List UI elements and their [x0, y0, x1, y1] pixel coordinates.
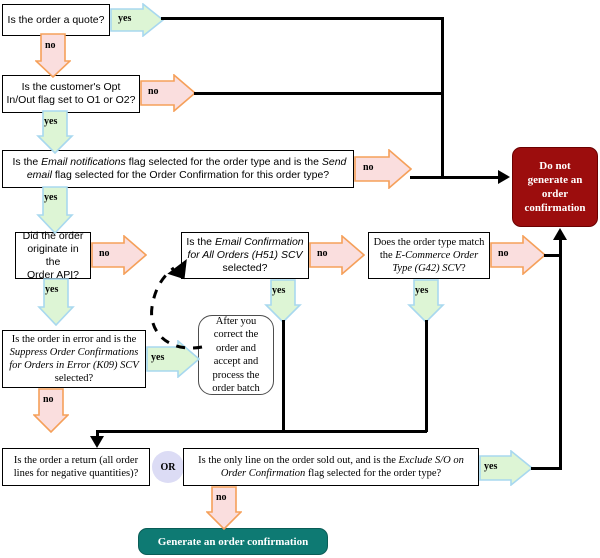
node-opt-in-out-line1: Is the customer's Opt — [22, 81, 121, 93]
node-order-api-line2: originate in the — [27, 243, 78, 268]
node-opt-in-out-line2: In/Out flag set to O1 or O2? — [7, 94, 136, 106]
terminal-stop-line3: order — [542, 188, 568, 200]
arrow-optinout-no-label: no — [148, 86, 159, 97]
node-k09-em1: Suppress Order Confirmations for Orders … — [9, 347, 139, 371]
arrow-soldout-no-label: no — [216, 492, 227, 503]
node-sold-out-exclude[interactable]: Is the only line on the order sold out, … — [183, 448, 479, 486]
or-badge: OR — [152, 451, 184, 483]
connector-stop-arrowhead — [498, 170, 510, 184]
connector-right-trunk-arrowhead — [553, 228, 567, 240]
node-email-notif-seg1: Is the — [13, 156, 42, 168]
node-order-api-origin[interactable]: Did the order originate in the Order API… — [15, 232, 91, 279]
node-order-return-line1: Is the order a return (all order — [14, 455, 138, 466]
arrow-g42-yes-label: yes — [415, 285, 428, 296]
node-order-is-return[interactable]: Is the order a return (all order lines f… — [2, 448, 150, 486]
arrow-h51-yes: yes — [264, 279, 302, 323]
connector-dashed-loopback — [140, 255, 250, 370]
connector-g42-yes-vertical — [425, 320, 428, 432]
node-email-notif-seg2: flag selected for the order type and is … — [126, 156, 322, 168]
node-soldout-seg1: Is the only line on the order sold out, … — [198, 455, 398, 466]
terminal-stop-line2: generate an — [528, 174, 583, 186]
arrow-emailnotif-yes-label: yes — [44, 192, 57, 203]
connector-quote-yes-vertical — [441, 17, 444, 177]
arrow-h51-no: no — [309, 235, 365, 275]
node-email-notif-em1: Email notifications — [41, 156, 126, 168]
arrow-emailnotif-yes: yes — [36, 186, 74, 234]
arrow-orderapi-yes-label: yes — [45, 284, 58, 295]
or-badge-label: OR — [161, 462, 176, 473]
terminal-stop-line4: confirmation — [524, 202, 585, 214]
arrow-orderapi-yes: yes — [37, 278, 75, 326]
arrow-quote-yes-label: yes — [118, 13, 131, 24]
arrow-g42-yes: yes — [407, 279, 445, 323]
node-k09-seg2: selected? — [55, 373, 93, 384]
arrow-g42-no-label: no — [498, 248, 509, 259]
connector-optinout-no-horizontal — [194, 92, 444, 95]
arrow-soldout-no: no — [206, 486, 242, 530]
arrow-quote-no-label: no — [45, 40, 56, 51]
node-k09-seg1: Is the order in error and is the — [12, 334, 137, 345]
arrow-optinout-no: no — [140, 74, 196, 112]
arrow-optinout-yes-label: yes — [44, 116, 57, 127]
arrow-soldout-yes: yes — [479, 450, 533, 486]
arrow-soldout-yes-label: yes — [484, 461, 497, 472]
arrow-g42-no: no — [490, 235, 546, 275]
arrow-k09-no: no — [33, 388, 69, 433]
connector-soldout-yes-horizontal — [531, 467, 562, 470]
terminal-go-label: Generate an order confirmation — [158, 535, 308, 549]
node-email-notif-seg3: flag selected for the Order Confirmation… — [52, 169, 329, 181]
arrow-optinout-yes: yes — [36, 110, 74, 154]
node-email-notifications-flag[interactable]: Is the Email notifications flag selected… — [2, 150, 354, 188]
arrow-emailnotif-no-label: no — [363, 162, 374, 173]
connector-emailnotif-no-horizontal — [410, 176, 500, 179]
connector-h51-yes-vertical — [282, 320, 285, 432]
node-h51-seg1: Is the — [186, 236, 215, 248]
arrow-h51-no-label: no — [317, 248, 328, 259]
arrow-h51-yes-label: yes — [272, 285, 285, 296]
node-order-return-line2: lines for negative quantities)? — [14, 468, 139, 479]
node-g42-seg2: ? — [461, 263, 466, 274]
node-is-order-quote[interactable]: Is the order a quote? — [2, 4, 110, 36]
node-g42-scv[interactable]: Does the order type match the E-Commerce… — [368, 232, 490, 279]
node-k09-scv[interactable]: Is the order in error and is the Suppres… — [2, 330, 146, 388]
arrow-k09-no-label: no — [43, 394, 54, 405]
connector-merge-arrowhead — [90, 436, 104, 448]
node-is-order-quote-label: Is the order a quote? — [6, 14, 106, 27]
connector-merge-horizontal — [96, 430, 427, 433]
arrow-orderapi-no: no — [91, 235, 147, 275]
terminal-do-not-generate: Do not generate an order confirmation — [512, 147, 598, 227]
terminal-stop-line1: Do not — [539, 160, 570, 172]
arrow-quote-no: no — [35, 33, 71, 78]
terminal-generate-confirmation: Generate an order confirmation — [138, 528, 328, 555]
arrow-orderapi-no-label: no — [99, 248, 110, 259]
arrow-quote-yes: yes — [110, 3, 164, 37]
connector-right-trunk-vertical — [559, 240, 562, 468]
node-soldout-seg2: flag selected for the order type? — [305, 468, 441, 479]
arrow-emailnotif-no: no — [354, 149, 412, 189]
node-opt-in-out-flag[interactable]: Is the customer's Opt In/Out flag set to… — [2, 75, 140, 113]
connector-quote-yes-horizontal — [161, 17, 444, 20]
